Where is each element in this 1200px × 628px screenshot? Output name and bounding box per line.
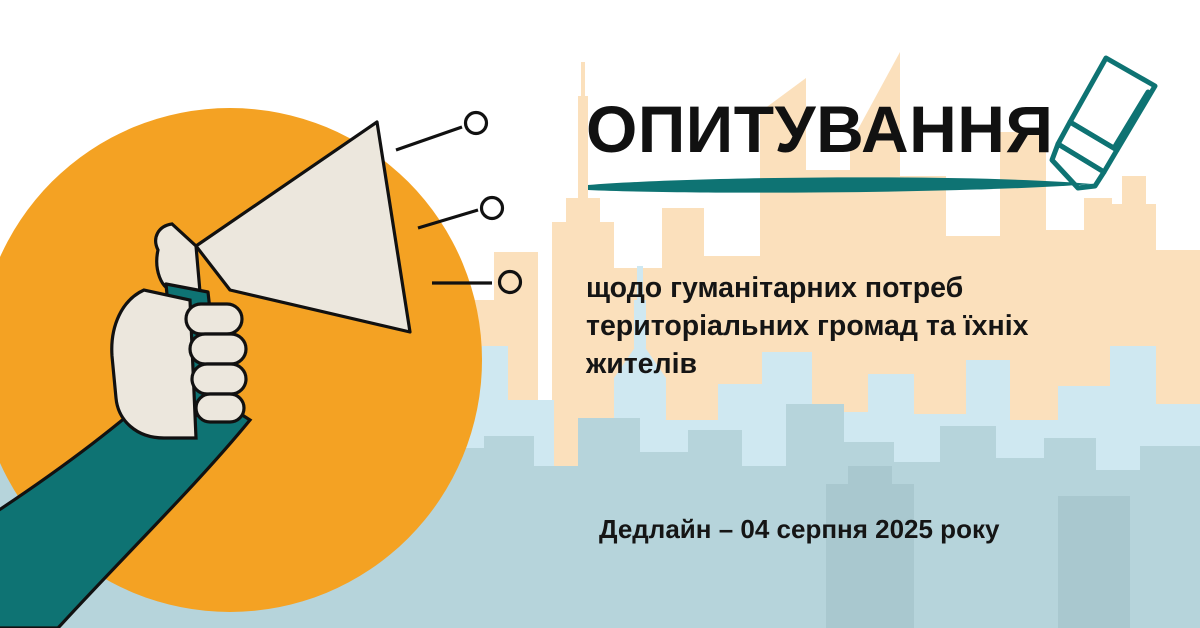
hand-icon [112, 290, 196, 438]
deadline-text: Дедлайн – 04 серпня 2025 року [599, 514, 1119, 545]
survey-announcement-poster: ОПИТУВАННЯ щодо гуманітарних потреб тери… [0, 0, 1200, 628]
page-title: ОПИТУВАННЯ [586, 96, 1106, 162]
poster-subtitle: щодо гуманітарних потреб територіальних … [586, 270, 1056, 384]
